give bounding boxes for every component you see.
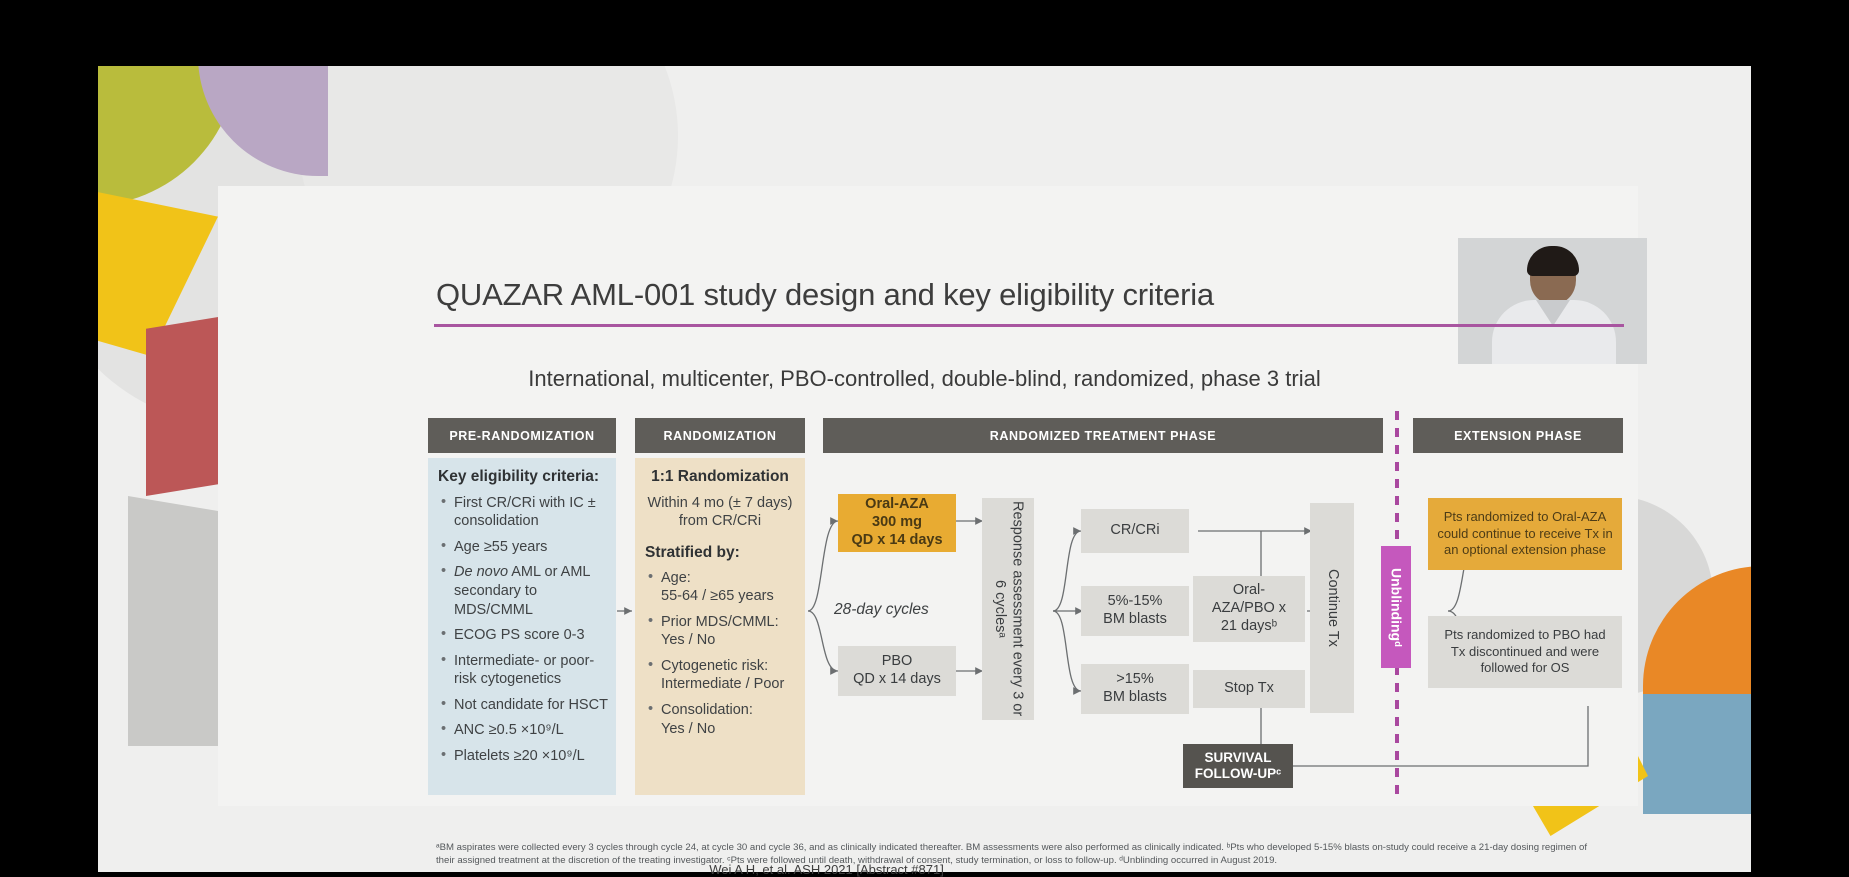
arm-placebo-box: PBO QD x 14 days <box>838 646 956 696</box>
citation: Wei A H, et al. ASH 2021 [Abstract #871] <box>98 862 1555 877</box>
list-item: Intermediate- or poor-risk cytogenetics <box>454 652 610 689</box>
eligibility-heading: Key eligibility criteria: <box>428 458 616 494</box>
outcome-cr-cri-box: CR/CRi <box>1081 509 1189 553</box>
survival-followup-box: SURVIVAL FOLLOW-UPᶜ <box>1183 744 1293 788</box>
arm-oral-aza-line3: QD x 14 days <box>851 532 942 550</box>
slide-stage: QUAZAR AML-001 study design and key elig… <box>0 0 1849 872</box>
continue-tx-label: Continue Tx <box>1323 569 1341 647</box>
stratum-value: Yes / No <box>661 721 715 737</box>
list-item: De novo AML or AML secondary to MDS/CMML <box>454 563 610 619</box>
arm-oral-aza-line2: 300 mg <box>872 514 922 532</box>
stratum-value: Yes / No <box>661 632 715 648</box>
stratum-value: Intermediate / Poor <box>661 676 784 692</box>
phase-header-randomized-treatment: RANDOMIZED TREATMENT PHASE <box>823 418 1383 453</box>
list-item: Cytogenetic risk:Intermediate / Poor <box>661 657 799 694</box>
outcome-over-15-line2: BM blasts <box>1103 689 1167 707</box>
extended-dosing-box: Oral- AZA/PBO x 21 daysᵇ <box>1193 576 1305 642</box>
list-item: Consolidation:Yes / No <box>661 701 799 738</box>
stratum-value: 55-64 / ≥65 years <box>661 588 774 604</box>
outcome-5-15-blasts-box: 5%-15% BM blasts <box>1081 586 1189 636</box>
stop-tx-label: Stop Tx <box>1224 680 1274 698</box>
continue-tx-box: Continue Tx <box>1310 503 1354 713</box>
list-item: ANC ≥0.5 ×10⁹/L <box>454 721 610 740</box>
extended-dosing-line3: 21 daysᵇ <box>1221 618 1277 636</box>
randomization-heading: 1:1 Randomization <box>635 458 805 494</box>
survival-line1: SURVIVAL <box>1204 750 1271 766</box>
extension-oral-aza-box: Pts randomized to Oral-AZA could continu… <box>1428 498 1622 570</box>
list-item: First CR/CRi with IC ± consolidation <box>454 494 610 531</box>
title-underline <box>434 324 1624 327</box>
list-item: Age ≥55 years <box>454 538 610 557</box>
randomization-window-line2: from CR/CRi <box>635 512 805 531</box>
extended-dosing-line2: AZA/PBO x <box>1212 600 1286 618</box>
slide-canvas: QUAZAR AML-001 study design and key elig… <box>98 66 1751 872</box>
slide-subtitle: International, multicenter, PBO-controll… <box>196 366 1653 392</box>
arm-placebo-line2: QD x 14 days <box>853 671 941 689</box>
survival-line2: FOLLOW-UPᶜ <box>1195 766 1282 782</box>
stratum-label: Consolidation: <box>661 702 753 718</box>
panel-randomization: 1:1 Randomization Within 4 mo (± 7 days)… <box>635 458 805 795</box>
outcome-cr-cri-label: CR/CRi <box>1110 522 1159 540</box>
phase-header-extension: EXTENSION PHASE <box>1413 418 1623 453</box>
strata-list: Age:55-64 / ≥65 years Prior MDS/CMML:Yes… <box>635 569 805 738</box>
phase-header-pre-randomization: PRE-RANDOMIZATION <box>428 418 616 453</box>
outcome-over-15-line1: >15% <box>1116 671 1154 689</box>
unblinding-box: Unblindingᵈ <box>1381 546 1411 668</box>
arm-oral-aza-box: Oral-AZA 300 mg QD x 14 days <box>838 494 956 552</box>
stratum-label: Prior MDS/CMML: <box>661 614 779 630</box>
extension-pbo-text: Pts randomized to PBO had Tx discontinue… <box>1436 627 1614 678</box>
presenter-video-thumbnail <box>1458 238 1647 364</box>
response-assessment-label: Response assessment every 3 or 6 cyclesᵃ <box>990 498 1025 720</box>
page-title: QUAZAR AML-001 study design and key elig… <box>436 277 1376 313</box>
extended-dosing-line1: Oral- <box>1233 582 1265 600</box>
randomization-window-line1: Within 4 mo (± 7 days) <box>635 494 805 513</box>
response-assessment-box: Response assessment every 3 or 6 cyclesᵃ <box>982 498 1034 720</box>
outcome-5-15-line1: 5%-15% <box>1108 593 1163 611</box>
stratified-heading: Stratified by: <box>635 543 805 569</box>
de-novo-italic: De novo <box>454 564 508 580</box>
panel-pre-randomization: Key eligibility criteria: First CR/CRi w… <box>428 458 616 795</box>
stratum-label: Age: <box>661 570 691 586</box>
list-item: Platelets ≥20 ×10⁹/L <box>454 747 610 766</box>
list-item: Prior MDS/CMML:Yes / No <box>661 613 799 650</box>
arm-placebo-line1: PBO <box>882 653 913 671</box>
cycles-note: 28-day cycles <box>834 601 929 619</box>
eligibility-list: First CR/CRi with IC ± consolidation Age… <box>428 494 616 766</box>
extension-oral-aza-text: Pts randomized to Oral-AZA could continu… <box>1436 509 1614 560</box>
stratum-label: Cytogenetic risk: <box>661 658 768 674</box>
outcome-over-15-blasts-box: >15% BM blasts <box>1081 664 1189 714</box>
stop-tx-box: Stop Tx <box>1193 670 1305 708</box>
deco-wedge-blue <box>1643 694 1751 814</box>
outcome-5-15-line2: BM blasts <box>1103 611 1167 629</box>
list-item: Not candidate for HSCT <box>454 696 610 715</box>
list-item: ECOG PS score 0-3 <box>454 626 610 645</box>
arm-oral-aza-line1: Oral-AZA <box>865 496 929 514</box>
unblinding-label: Unblindingᵈ <box>1387 568 1404 647</box>
extension-pbo-box: Pts randomized to PBO had Tx discontinue… <box>1428 616 1622 688</box>
list-item: Age:55-64 / ≥65 years <box>661 569 799 606</box>
phase-header-randomization: RANDOMIZATION <box>635 418 805 453</box>
